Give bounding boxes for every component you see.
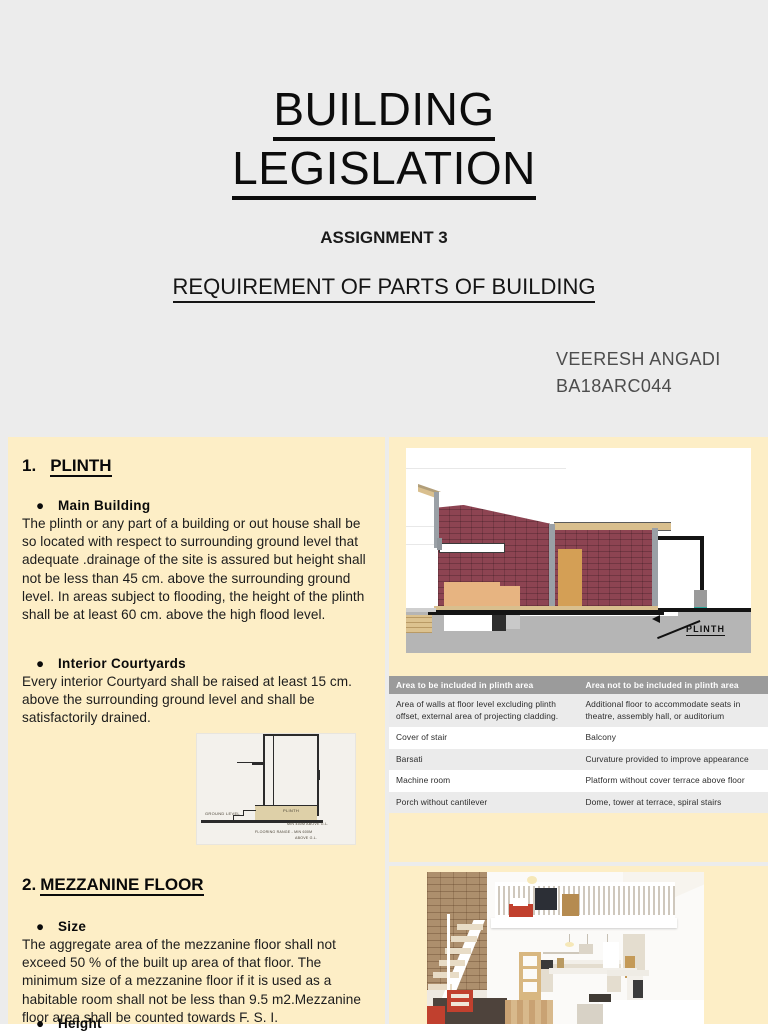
sketch-annotation-min-height: MIN 450M ABOVE G.L.	[287, 822, 328, 826]
page-title: BUILDING LEGISLATION	[0, 82, 768, 200]
section-heading-mezzanine-floor: 2.MEZZANINE FLOOR	[22, 875, 204, 895]
table-cell-not-included: Balcony	[579, 727, 768, 749]
table-header-included: Area to be included in plinth area	[389, 676, 579, 694]
body-text-size: The aggregate area of the mezzanine floo…	[22, 936, 368, 1027]
author-name: VEERESH ANGADI	[556, 346, 721, 373]
page-title-line1: BUILDING	[273, 82, 494, 141]
bullet-label-text: Interior Courtyards	[58, 656, 186, 671]
table-cell-not-included: Additional floor to accommodate seats in…	[579, 694, 768, 727]
assignment-label: ASSIGNMENT 3	[0, 228, 768, 248]
author-id: BA18ARC044	[556, 373, 721, 400]
table-cell-included: Machine room	[389, 770, 579, 792]
table-cell-included: Cover of stair	[389, 727, 579, 749]
table-row: Machine room Platform without cover terr…	[389, 770, 768, 792]
table-cell-not-included: Dome, tower at terrace, spiral stairs	[579, 792, 768, 814]
plinth-area-table: Area to be included in plinth area Area …	[389, 676, 768, 813]
sketch-annotation-flooring-range: FLOORING RANGE - MIN 600M	[255, 830, 312, 834]
page-title-line2: LEGISLATION	[232, 141, 536, 200]
slide-page: BUILDING LEGISLATION ASSIGNMENT 3 REQUIR…	[0, 0, 768, 1024]
sketch-annotation-above-gl: ABOVE G.L.	[295, 836, 317, 840]
bullet-label-interior-courtyards: ●Interior Courtyards	[36, 656, 186, 671]
body-text-main-building: The plinth or any part of a building or …	[22, 515, 368, 624]
table-row: Cover of stair Balcony	[389, 727, 768, 749]
bullet-label-main-building: ●Main Building	[36, 498, 150, 513]
building-section-illustration: PLINTH	[406, 448, 751, 653]
page-subtitle: REQUIREMENT OF PARTS OF BUILDING	[0, 274, 768, 303]
table-cell-not-included: Curvature provided to improve appearance	[579, 749, 768, 771]
section-number-2: 2.	[22, 875, 36, 894]
author-block: VEERESH ANGADI BA18ARC044	[556, 346, 721, 400]
table-cell-not-included: Platform without cover terrace above flo…	[579, 770, 768, 792]
sketch-annotation-plinth: PLINTH	[283, 808, 299, 813]
table-header-not-included: Area not to be included in plinth area	[579, 676, 768, 694]
bullet-dot-icon: ●	[36, 656, 58, 671]
section-title-1: PLINTH	[50, 456, 111, 477]
mezzanine-interior-photo	[427, 872, 704, 1024]
title-block: BUILDING LEGISLATION ASSIGNMENT 3 REQUIR…	[0, 0, 768, 437]
body-text-interior-courtyards: Every interior Courtyard shall be raised…	[22, 673, 368, 728]
table-row: Barsati Curvature provided to improve ap…	[389, 749, 768, 771]
table-row: Porch without cantilever Dome, tower at …	[389, 792, 768, 814]
table-header-row: Area to be included in plinth area Area …	[389, 676, 768, 694]
bullet-label-text: Main Building	[58, 498, 150, 513]
table-row: Area of walls at floor level excluding p…	[389, 694, 768, 727]
table-cell-included: Area of walls at floor level excluding p…	[389, 694, 579, 727]
bullet-dot-icon: ●	[36, 498, 58, 513]
section-number-1: 1.	[22, 456, 36, 475]
page-subtitle-text: REQUIREMENT OF PARTS OF BUILDING	[173, 274, 596, 303]
bullet-label-text: Size	[58, 919, 86, 934]
plinth-detail-sketch: GROUND LEVEL PLINTH MIN 450M ABOVE G.L. …	[196, 733, 356, 845]
table-cell-included: Porch without cantilever	[389, 792, 579, 814]
table-cell-included: Barsati	[389, 749, 579, 771]
sketch-annotation-ground-level: GROUND LEVEL	[205, 811, 240, 816]
bullet-dot-icon: ●	[36, 919, 58, 934]
section-title-2: MEZZANINE FLOOR	[40, 875, 203, 896]
illustration-caption-plinth: PLINTH	[686, 624, 725, 636]
bullet-label-size: ●Size	[36, 919, 86, 934]
section-heading-plinth: 1.PLINTH	[22, 456, 112, 476]
